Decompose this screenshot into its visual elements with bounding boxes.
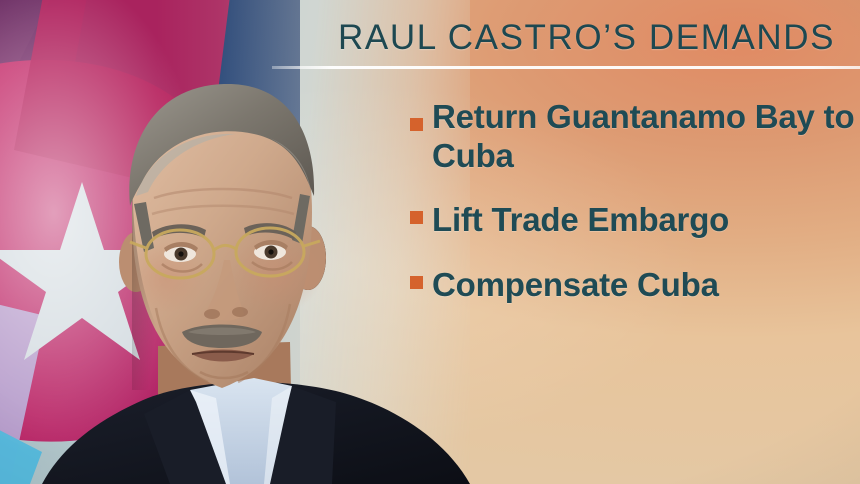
list-item: Lift Trade Embargo [410, 201, 860, 240]
demands-list: Return Guantanamo Bay to Cuba Lift Trade… [410, 98, 860, 304]
list-item: Return Guantanamo Bay to Cuba [410, 98, 860, 175]
list-item-label: Compensate Cuba [432, 266, 860, 305]
list-item: Compensate Cuba [410, 266, 860, 305]
broadcast-graphic: RAUL CASTRO’S DEMANDS Return Guantanamo … [0, 0, 860, 484]
bullet-square-icon [410, 211, 423, 224]
page-title: RAUL CASTRO’S DEMANDS [338, 18, 835, 58]
title-divider [272, 66, 860, 69]
list-item-label: Return Guantanamo Bay to Cuba [432, 98, 860, 175]
bullet-square-icon [410, 118, 423, 131]
bullet-square-icon [410, 276, 423, 289]
list-item-label: Lift Trade Embargo [432, 201, 860, 240]
